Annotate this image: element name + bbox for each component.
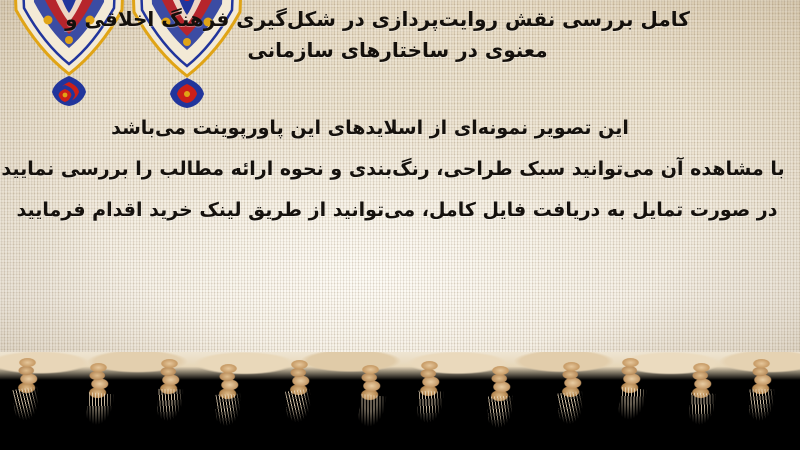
- fringe-brush: [355, 394, 386, 446]
- title-line-1: کامل بررسی نقش روایت‌پردازی در شکل‌گیری …: [5, 4, 790, 35]
- text-layer: کامل بررسی نقش روایت‌پردازی در شکل‌گیری …: [0, 0, 800, 372]
- fringe-tassel: [214, 364, 244, 444]
- fringe-brush: [215, 393, 244, 444]
- fringe-tassel: [687, 363, 717, 443]
- fringe-brush: [416, 391, 444, 442]
- body-line-3: در صورت تمایل به دریافت فایل کامل، می‌تو…: [0, 190, 800, 231]
- fringe-tassel: [557, 362, 587, 442]
- fringe-tassel: [285, 360, 315, 440]
- slide-preview: کامل بررسی نقش روایت‌پردازی در شکل‌گیری …: [0, 0, 800, 450]
- fringe-tassel: [13, 358, 43, 438]
- fringe-tassel: [356, 365, 386, 445]
- fringe-tassel: [84, 363, 114, 443]
- tassel-row: [0, 362, 800, 450]
- fringe-brush: [487, 396, 515, 447]
- fringe-brush: [748, 389, 775, 439]
- fringe-brush: [156, 389, 183, 439]
- fringe-brush: [688, 392, 717, 443]
- title-line-2: معنوی در ساختارهای سازمانی: [5, 35, 790, 66]
- body-line-1: این تصویر نمونه‌ای از اسلایدهای این پاور…: [0, 108, 800, 149]
- fringe-brush: [284, 389, 316, 442]
- fringe-brush: [615, 387, 647, 440]
- fringe-brush: [556, 391, 587, 443]
- body-line-2: با مشاهده آن می‌توانید سبک طراحی، رنگ‌بن…: [0, 149, 800, 190]
- fringe-tassel: [155, 359, 185, 439]
- fringe-tassel: [616, 358, 646, 438]
- fringe-tassel: [747, 359, 777, 439]
- fringe-brush: [84, 392, 114, 444]
- carpet-fringe: [0, 352, 800, 450]
- fringe-tassel: [486, 366, 516, 446]
- fringe-tassel: [415, 361, 445, 441]
- fringe-brush: [12, 386, 45, 439]
- slide-title: کامل بررسی نقش روایت‌پردازی در شکل‌گیری …: [5, 4, 790, 66]
- slide-body: این تصویر نمونه‌ای از اسلایدهای این پاور…: [0, 108, 800, 231]
